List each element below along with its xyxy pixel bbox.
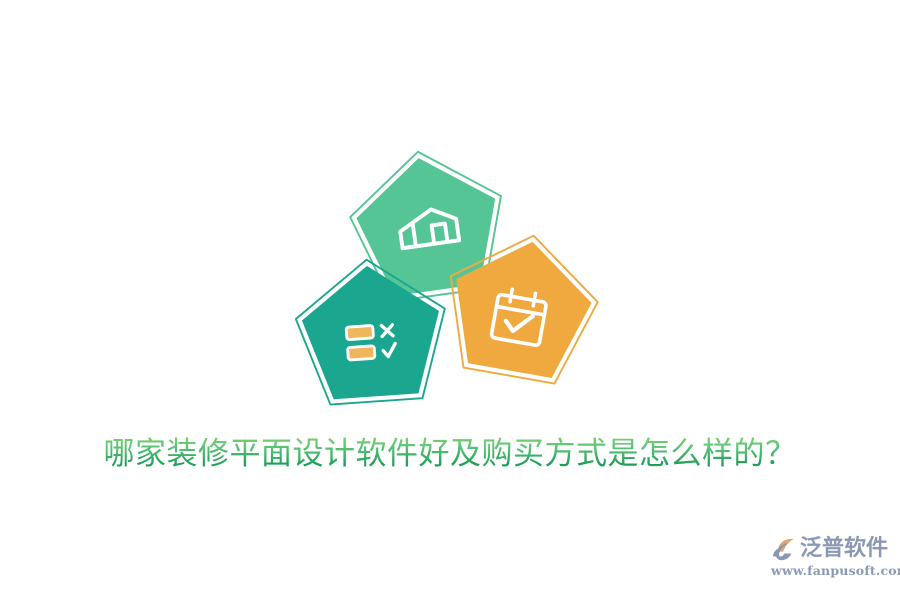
page-root: 哪家装修平面设计软件好及购买方式是怎么样的？ 泛普软件 www.fanpusof… <box>0 0 900 600</box>
page-title: 哪家装修平面设计软件好及购买方式是怎么样的？ <box>0 432 900 476</box>
hero-graphic <box>280 128 610 420</box>
watermark-logo-row: 泛普软件 <box>770 534 888 564</box>
watermark-url-text: www.fanpusoft.com <box>771 563 900 579</box>
watermark: 泛普软件 www.fanpusoft.com <box>770 534 892 582</box>
watermark-brand-text: 泛普软件 <box>800 535 888 563</box>
fanpu-logo-icon <box>770 535 798 563</box>
checklist-bar-2 <box>347 346 375 360</box>
checklist-bar-1 <box>346 325 374 339</box>
